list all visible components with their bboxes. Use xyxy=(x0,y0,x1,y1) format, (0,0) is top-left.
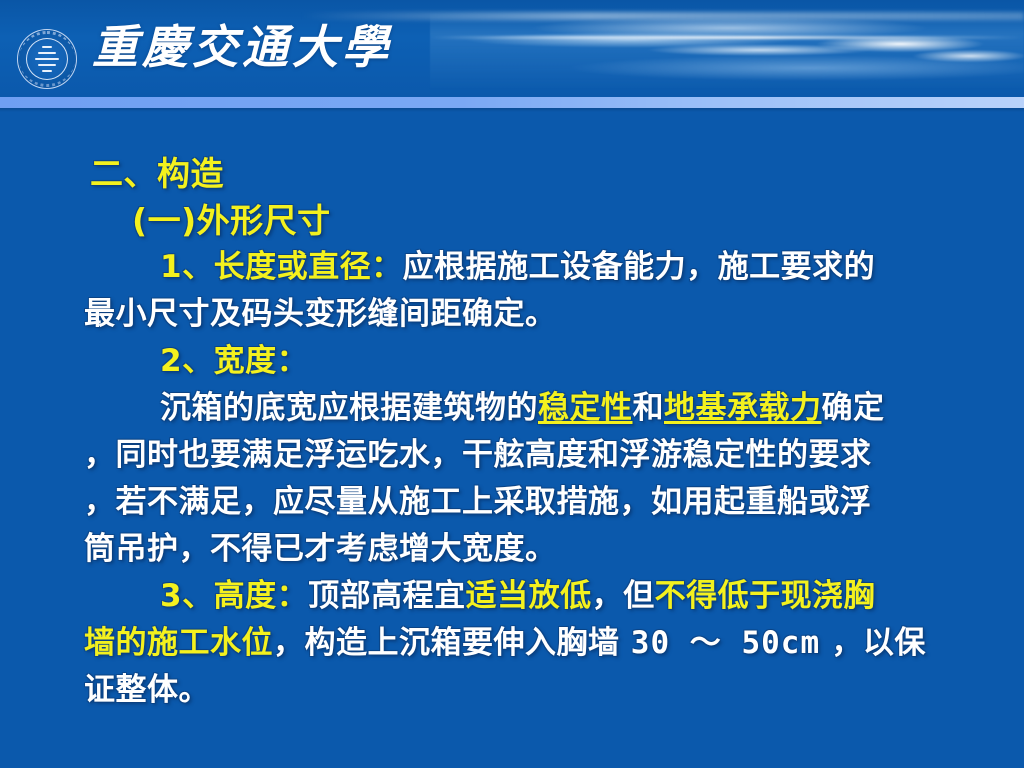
header-divider-shadow xyxy=(0,108,1024,112)
item2-label: 2、宽度： xyxy=(0,338,1024,385)
item1-line1: 1、长度或直径：应根据施工设备能力，施工要求的 xyxy=(0,244,1024,291)
item3-line1-a: 顶部高程宜 xyxy=(308,578,466,614)
item2-line4: 筒吊护，不得已才考虑增大宽度。 xyxy=(0,526,1024,573)
item3-highlight-lower: 适当放低 xyxy=(466,578,592,614)
item2-line1-b: 和 xyxy=(633,390,665,426)
item2-line1: 沉箱的底宽应根据建筑物的稳定性和地基承载力确定 xyxy=(0,385,1024,432)
banner-sheen xyxy=(300,12,1024,20)
item3-line1-b: ，但 xyxy=(592,578,655,614)
item2-line1-c: 确定 xyxy=(822,390,885,426)
item3-line2: 墙的施工水位，构造上沉箱要伸入胸墙 30 ～ 50cm ，以保 xyxy=(0,620,1024,667)
slide-content: 二、构造 (一)外形尺寸 1、长度或直径：应根据施工设备能力，施工要求的 最小尺… xyxy=(0,150,1024,714)
university-name: 重慶交通大學 xyxy=(92,24,392,70)
item3-label: 3、高度： xyxy=(160,578,308,614)
university-logo-icon xyxy=(17,29,77,89)
item2-term-stability: 稳定性 xyxy=(538,390,633,426)
item2-term-bearing-capacity: 地基承载力 xyxy=(664,390,822,426)
item3-line1: 3、高度：顶部高程宜适当放低，但不得低于现浇胸 xyxy=(0,573,1024,620)
section-heading: 二、构造 xyxy=(0,150,1024,197)
item3-measurement: 30 ～ 50cm xyxy=(631,625,820,661)
item3-highlight-water-level: 墙的施工水位 xyxy=(84,625,273,661)
item2-line1-a: 沉箱的底宽应根据建筑物的 xyxy=(160,390,538,426)
item3-line3: 证整体。 xyxy=(0,667,1024,714)
banner-cloud-image xyxy=(430,10,1024,88)
section-subheading: (一)外形尺寸 xyxy=(0,197,1024,244)
item3-highlight-not-below: 不得低于现浇胸 xyxy=(655,578,876,614)
logo-mark-icon xyxy=(33,44,61,74)
item2-line2: ，同时也要满足浮运吃水，干舷高度和浮游稳定性的要求 xyxy=(0,432,1024,479)
item1-label: 1、长度或直径： xyxy=(160,249,403,285)
item2-line3: ，若不满足，应尽量从施工上采取措施，如用起重船或浮 xyxy=(0,479,1024,526)
slide-canvas: 重慶交通大學 二、构造 (一)外形尺寸 1、长度或直径：应根据施工设备能力，施工… xyxy=(0,0,1024,768)
item3-line2-b: ，以保 xyxy=(820,625,926,661)
item1-line2: 最小尺寸及码头变形缝间距确定。 xyxy=(0,291,1024,338)
item1-body-a: 应根据施工设备能力，施工要求的 xyxy=(403,249,876,285)
header-divider xyxy=(0,97,1024,108)
item3-line2-a: ，构造上沉箱要伸入胸墙 xyxy=(273,625,631,661)
